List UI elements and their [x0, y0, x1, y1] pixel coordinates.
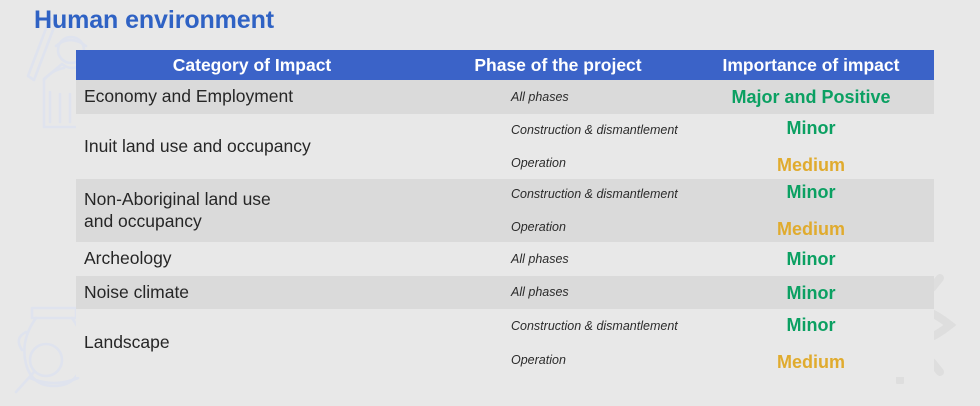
impact-summary-table: Category of Impact Phase of the project …: [76, 50, 934, 377]
phase-label: Construction & dismantlement: [511, 188, 688, 201]
slide-canvas: Human environment Category of Impact Pha…: [0, 0, 980, 406]
table-row: Non-Aboriginal land useand occupancyCons…: [76, 179, 934, 242]
importance-badge: Minor: [688, 250, 934, 268]
phase-cell: All phases: [428, 80, 688, 114]
table-body: Economy and EmploymentAll phasesMajor an…: [76, 80, 934, 377]
phase-label: All phases: [511, 91, 688, 104]
table-row: LandscapeConstruction & dismantlementOpe…: [76, 309, 934, 377]
importance-cell: MinorMedium: [688, 179, 934, 242]
importance-badge: Minor: [688, 316, 934, 334]
column-header-phase: Phase of the project: [428, 50, 688, 80]
importance-badge: Minor: [688, 183, 934, 201]
column-header-importance: Importance of impact: [688, 50, 934, 80]
importance-badge: Major and Positive: [688, 88, 934, 106]
table-row: ArcheologyAll phasesMinor: [76, 242, 934, 276]
importance-cell: Major and Positive: [688, 80, 934, 114]
importance-cell: MinorMedium: [688, 114, 934, 179]
phase-label: Operation: [511, 157, 688, 170]
table-row: Noise climateAll phasesMinor: [76, 276, 934, 309]
phase-label: All phases: [511, 253, 688, 266]
phase-label: Construction & dismantlement: [511, 124, 688, 137]
category-cell: Landscape: [76, 309, 428, 377]
phase-cell: Construction & dismantlementOperation: [428, 309, 688, 377]
importance-badge: Medium: [688, 353, 934, 371]
importance-badge: Medium: [688, 220, 934, 238]
column-header-category: Category of Impact: [76, 50, 428, 80]
table-row: Economy and EmploymentAll phasesMajor an…: [76, 80, 934, 114]
table-header-row: Category of Impact Phase of the project …: [76, 50, 934, 80]
importance-badge: Medium: [688, 156, 934, 174]
phase-label: All phases: [511, 286, 688, 299]
importance-badge: Minor: [688, 119, 934, 137]
category-cell: Non-Aboriginal land useand occupancy: [76, 179, 428, 242]
phase-cell: Construction & dismantlementOperation: [428, 114, 688, 179]
phase-cell: All phases: [428, 276, 688, 309]
phase-cell: Construction & dismantlementOperation: [428, 179, 688, 242]
table-row: Inuit land use and occupancyConstruction…: [76, 114, 934, 179]
phase-cell: All phases: [428, 242, 688, 276]
importance-cell: Minor: [688, 276, 934, 309]
phase-label: Operation: [511, 221, 688, 234]
category-cell: Economy and Employment: [76, 80, 428, 114]
table-header: Category of Impact Phase of the project …: [76, 50, 934, 80]
phase-label: Operation: [511, 354, 688, 367]
importance-cell: MinorMedium: [688, 309, 934, 377]
category-cell: Archeology: [76, 242, 428, 276]
category-cell: Noise climate: [76, 276, 428, 309]
importance-badge: Minor: [688, 284, 934, 302]
category-cell: Inuit land use and occupancy: [76, 114, 428, 179]
importance-cell: Minor: [688, 242, 934, 276]
phase-label: Construction & dismantlement: [511, 320, 688, 333]
page-title: Human environment: [34, 6, 274, 35]
